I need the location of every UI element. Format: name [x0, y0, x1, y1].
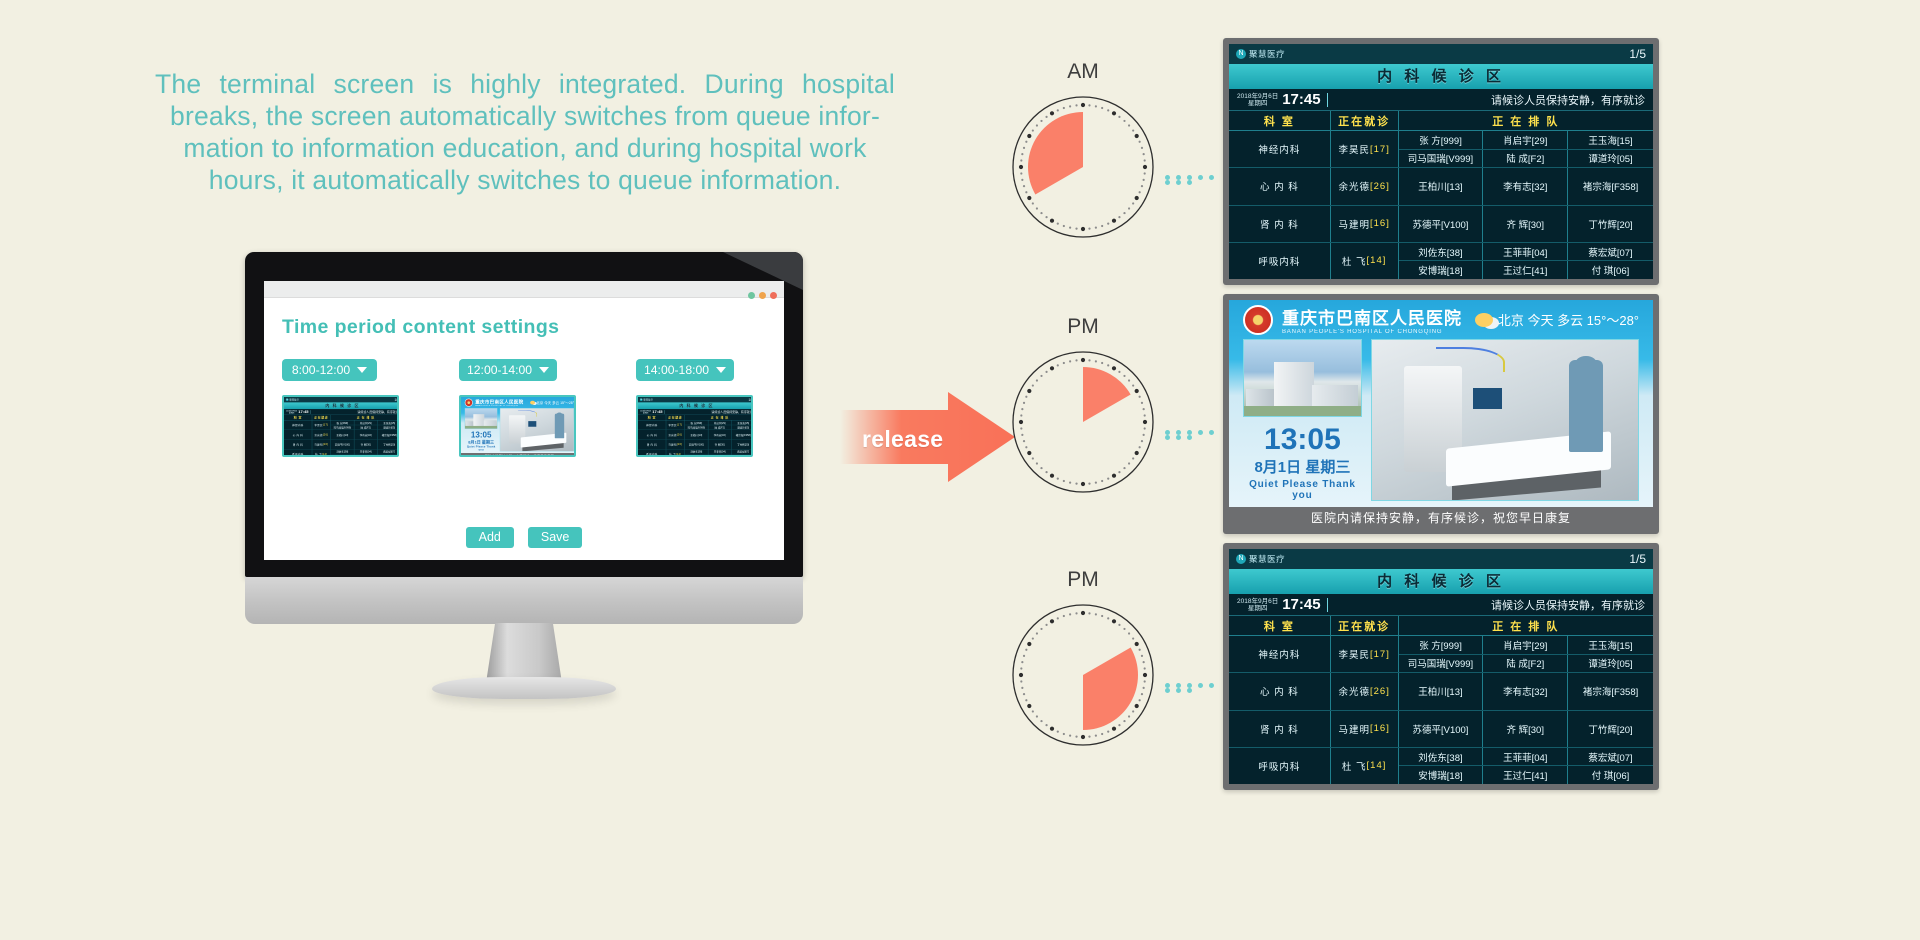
current-patient: 马建明[16]: [666, 440, 685, 449]
period-label-3: 14:00-18:00: [644, 363, 709, 377]
queue-line: 张 方[999]肖启宇[29]王玉海[15]: [1399, 636, 1653, 655]
weather-widget: 北京 今天 多云 15°～28°: [530, 400, 574, 405]
hospital-name-cn: 重庆市巴南区人民医院: [475, 398, 523, 405]
queue-patient: 陆 成[F2]: [1483, 655, 1568, 673]
connector-dots-2: [1165, 430, 1223, 436]
queue-cell: 王柏川[13]李有志[32]褚宗海[F358]: [1399, 673, 1653, 709]
queue-line: 王柏川[13]李有志[32]褚宗海[F358]: [1399, 168, 1653, 204]
queue-patient: 李有志[32]: [354, 430, 377, 439]
monitor-foot: [432, 677, 616, 699]
sun-cloud-icon: [530, 401, 535, 405]
queue-patient: 刘佐东[38]: [1399, 748, 1484, 766]
queue-table: 科 室 正在就诊 正 在 排 队 神经内科 李昊民[17] 张 方[999]肖启…: [1229, 616, 1653, 784]
brand-logo: N聚慧医疗: [640, 398, 653, 401]
board-notice: 请候诊人员保持安静，有序就诊: [1491, 92, 1645, 108]
hospital-name: 重庆市巴南区人民医院 BANAN PEOPLE'S HOSPITAL OF CH…: [1282, 304, 1462, 335]
queue-line: 刘佐东[38]王菲菲[04]蔡宏斌[07]: [1399, 243, 1653, 262]
queue-patient: 王过仁[41]: [1483, 261, 1568, 279]
page-indicator: 1/5: [394, 398, 398, 402]
brand-name: 聚慧医疗: [643, 398, 653, 401]
current-patient: 李昊民[17]: [1331, 131, 1399, 167]
intro-line-1: Theterminalscreenishighlyintegrated.Duri…: [155, 68, 895, 100]
desktop-monitor: Time period content settings 8:00-12:00 …: [245, 252, 803, 642]
clock-am-1: AM: [1008, 60, 1158, 242]
queue-cell: 张 方[999]肖启宇[29]王玉海[15]司马国瑞[V999]陆 成[F2]谭…: [331, 420, 399, 429]
queue-line: 苏德平[V100]齐 辉[30]丁竹辉[20]: [1399, 206, 1653, 242]
info-left-column: 13:05 8月1日 星期三 Quiet Please Thank you: [465, 408, 498, 451]
board-time: 17:45: [1282, 91, 1320, 108]
clock-slice-12:00-14:00: [1008, 347, 1158, 497]
table-row: 心 内 科 余光德[26] 王柏川[13]李有志[32]褚宗海[F358]: [638, 430, 753, 440]
clock-pm-2: PM: [1008, 568, 1158, 750]
board-title: 内 科 候 诊 区: [638, 402, 753, 409]
queue-patient: 王柏川[13]: [1399, 673, 1484, 709]
clock-block: 13:05 8月1日 星期三 Quiet Please Thank you: [1243, 425, 1362, 501]
dept-name: 肾 内 科: [1229, 206, 1331, 242]
info-board-body: 13:05 8月1日 星期三 Quiet Please Thank you: [1229, 339, 1653, 507]
queue-patient: 王柏川[13]: [331, 430, 354, 439]
clock-block: 13:05 8月1日 星期三 Quiet Please Thank you: [465, 431, 498, 451]
info-board-body: 13:05 8月1日 星期三 Quiet Please Thank you: [461, 408, 576, 453]
table-row: 神经内科 李昊民[17] 张 方[999]肖启宇[29]王玉海[15]司马国瑞[…: [638, 420, 753, 430]
queue-board: N聚慧医疗 1/5 内 科 候 诊 区 2018年9月6日星期四 17:45 请…: [1229, 44, 1653, 279]
queue-board-header: N聚慧医疗 1/5: [1229, 44, 1653, 64]
logo-mark-icon: N: [640, 398, 643, 401]
info-footer: 医院内请保持安静，有序候诊，祝您早日康复: [461, 453, 576, 457]
queue-patient: 齐 辉[30]: [1483, 206, 1568, 242]
board-title: 内 科 候 诊 区: [1229, 64, 1653, 89]
queue-patient: 苏德平[V100]: [1399, 711, 1484, 747]
queue-patient: 安博瑞[18]: [1399, 261, 1484, 279]
quiet-message: Quiet Please Thank you: [465, 446, 498, 452]
queue-patient: 肖启宇[29]: [1483, 131, 1568, 149]
queue-line: 安博瑞[18]王过仁[41]付 琪[06]: [685, 454, 753, 457]
thumb-info-board: 重庆市巴南区人民医院 BANAN PEOPLE'S HOSPITAL OF CH…: [461, 397, 576, 457]
queue-patient: 付 琪[06]: [1568, 261, 1653, 279]
display-panel-2: 重庆市巴南区人民医院 BANAN PEOPLE'S HOSPITAL OF CH…: [1223, 294, 1659, 534]
weather-text: 北京 今天 多云 15°～28°: [1498, 310, 1639, 329]
board-time: 17:45: [298, 410, 308, 415]
hospital-crest-icon: [465, 399, 473, 407]
info-board: 重庆市巴南区人民医院 BANAN PEOPLE'S HOSPITAL OF CH…: [461, 397, 576, 457]
monitor-neck: [486, 623, 562, 683]
clock-dial: [1008, 600, 1158, 750]
dept-name: 呼吸内科: [284, 449, 312, 457]
weather-text: 北京 今天 多云 15°～28°: [536, 400, 574, 405]
dept-name: 肾 内 科: [284, 440, 312, 449]
action-buttons: Add Save: [264, 527, 784, 548]
queue-patient: 王玉海[15]: [1568, 131, 1653, 149]
queue-line: 司马国瑞[V999]陆 成[F2]谭道玲[05]: [1399, 150, 1653, 168]
queue-patient: 陆 成[F2]: [1483, 150, 1568, 168]
queue-cell: 苏德平[V100]齐 辉[30]丁竹辉[20]: [331, 440, 399, 449]
clock-label: PM: [1008, 568, 1158, 592]
page-indicator: 1/5: [1629, 47, 1646, 61]
table-row: 肾 内 科 马建明[16] 苏德平[V100]齐 辉[30]丁竹辉[20]: [284, 440, 399, 450]
brand-name: 聚慧医疗: [289, 398, 299, 401]
connector-dots-3: [1165, 683, 1223, 689]
table-row: 神经内科 李昊民[17] 张 方[999]肖启宇[29]王玉海[15]司马国瑞[…: [284, 420, 399, 430]
queue-cell: 苏德平[V100]齐 辉[30]丁竹辉[20]: [1399, 711, 1653, 747]
queue-patient: 齐 辉[30]: [708, 440, 731, 449]
queue-patient: 付 琪[06]: [1568, 766, 1653, 784]
clock-slice-8:00-12:00: [1008, 92, 1158, 242]
queue-line: 王柏川[13]李有志[32]褚宗海[F358]: [1399, 673, 1653, 709]
queue-patient: 苏德平[V100]: [685, 440, 708, 449]
window-controls[interactable]: [744, 286, 777, 304]
thumb-queue-board: N聚慧医疗 1/5 内 科 候 诊 区 2018年9月6日星期四 17:45 请…: [638, 397, 753, 457]
period-thumbnail-3[interactable]: N聚慧医疗 1/5 内 科 候 诊 区 2018年9月6日星期四 17:45 请…: [636, 395, 753, 457]
brand-logo: N聚慧医疗: [1236, 553, 1285, 565]
queue-patient: 司马国瑞[V999]: [1399, 150, 1484, 168]
clock-dial: [1008, 92, 1158, 242]
board-time: 17:45: [652, 410, 662, 415]
period-dropdown-3[interactable]: 14:00-18:00: [636, 359, 734, 381]
hospital-name-en: BANAN PEOPLE'S HOSPITAL OF CHONGQING: [1282, 329, 1462, 335]
queue-board: N聚慧医疗 1/5 内 科 候 诊 区 2018年9月6日星期四 17:45 请…: [284, 397, 399, 457]
period-label-1: 8:00-12:00: [292, 363, 350, 377]
current-patient: 杜 飞[14]: [312, 449, 331, 457]
col-queue: 正 在 排 队: [1399, 616, 1653, 636]
intro-line-2: breaks, the screen automatically switche…: [155, 100, 895, 132]
current-patient: 余光德[26]: [1331, 673, 1399, 709]
weather-widget: 北京 今天 多云 15°～28°: [1475, 310, 1639, 329]
queue-cell: 张 方[999]肖启宇[29]王玉海[15]司马国瑞[V999]陆 成[F2]谭…: [1399, 636, 1653, 672]
thumb-queue-board: N聚慧医疗 1/5 内 科 候 诊 区 2018年9月6日星期四 17:45 请…: [284, 397, 399, 457]
display-panel-1: N聚慧医疗 1/5 内 科 候 诊 区 2018年9月6日星期四 17:45 请…: [1223, 38, 1659, 285]
add-button[interactable]: Add: [466, 527, 514, 548]
queue-cell: 苏德平[V100]齐 辉[30]丁竹辉[20]: [1399, 206, 1653, 242]
dept-name: 心 内 科: [284, 430, 312, 439]
save-button[interactable]: Save: [528, 527, 583, 548]
monitor-screen: Time period content settings 8:00-12:00 …: [264, 281, 784, 560]
queue-cell: 刘佐东[38]王菲菲[04]蔡宏斌[07]安博瑞[18]王过仁[41]付 琪[0…: [685, 449, 753, 457]
queue-patient: 蔡宏斌[07]: [1568, 243, 1653, 261]
queue-line: 司马国瑞[V999]陆 成[F2]谭道玲[05]: [1399, 655, 1653, 673]
queue-patient: 王柏川[13]: [685, 430, 708, 439]
queue-board: N聚慧医疗 1/5 内 科 候 诊 区 2018年9月6日星期四 17:45 请…: [638, 397, 753, 457]
chevron-down-icon: [539, 367, 549, 373]
minimize-dot-icon[interactable]: [748, 292, 755, 299]
period-slot-1: 8:00-12:00 N聚慧医疗 1/5 内 科 候 诊 区 2018年9月6日…: [282, 359, 399, 457]
current-patient: 杜 飞[14]: [1331, 243, 1399, 279]
queue-patient: 苏德平[V100]: [1399, 206, 1484, 242]
queue-table: 科 室 正在就诊 正 在 排 队 神经内科 李昊民[17] 张 方[999]肖启…: [284, 415, 399, 457]
current-date: 8月1日 星期三: [465, 439, 498, 445]
period-slot-3: 14:00-18:00 N聚慧医疗 1/5 内 科 候 诊 区 2018年9月6…: [636, 359, 753, 457]
queue-patient: 张 方[999]: [1399, 131, 1484, 149]
period-thumbnail-2[interactable]: 重庆市巴南区人民医院 BANAN PEOPLE'S HOSPITAL OF CH…: [459, 395, 576, 457]
queue-patient: 付 琪[06]: [731, 454, 753, 457]
divider: [1327, 598, 1328, 612]
queue-patient: 齐 辉[30]: [354, 440, 377, 449]
board-subheader: 2018年9月6日星期四 17:45 请候诊人员保持安静，有序就诊: [1229, 594, 1653, 616]
queue-patient: 安博瑞[18]: [1399, 766, 1484, 784]
queue-patient: 王过仁[41]: [708, 454, 731, 457]
queue-line: 王柏川[13]李有志[32]褚宗海[F358]: [331, 430, 399, 439]
table-row: 神经内科 李昊民[17] 张 方[999]肖启宇[29]王玉海[15]司马国瑞[…: [1229, 636, 1653, 673]
table-row: 心 内 科 余光德[26] 王柏川[13]李有志[32]褚宗海[F358]: [1229, 673, 1653, 710]
current-patient: 马建明[16]: [1331, 711, 1399, 747]
table-row: 肾 内 科 马建明[16] 苏德平[V100]齐 辉[30]丁竹辉[20]: [1229, 206, 1653, 243]
clock-pm-1: PM: [1008, 315, 1158, 497]
display-panel-3: N聚慧医疗 1/5 内 科 候 诊 区 2018年9月6日星期四 17:45 请…: [1223, 543, 1659, 790]
queue-cell: 张 方[999]肖启宇[29]王玉海[15]司马国瑞[V999]陆 成[F2]谭…: [685, 420, 753, 429]
board-time: 17:45: [1282, 596, 1320, 613]
current-patient: 余光德[26]: [666, 430, 685, 439]
table-row: 神经内科 李昊民[17] 张 方[999]肖启宇[29]王玉海[15]司马国瑞[…: [1229, 131, 1653, 168]
chevron-down-icon: [357, 367, 367, 373]
queue-line: 安博瑞[18]王过仁[41]付 琪[06]: [1399, 261, 1653, 279]
brand-name: 聚慧医疗: [1249, 48, 1285, 60]
queue-line: 苏德平[V100]齐 辉[30]丁竹辉[20]: [685, 440, 753, 449]
queue-patient: 丁竹辉[20]: [377, 440, 399, 449]
queue-patient: 齐 辉[30]: [1483, 711, 1568, 747]
queue-table: 科 室 正在就诊 正 在 排 队 神经内科 李昊民[17] 张 方[999]肖启…: [638, 415, 753, 457]
intro-paragraph: Theterminalscreenishighlyintegrated.Duri…: [155, 68, 895, 196]
logo-mark-icon: N: [1236, 49, 1246, 59]
queue-patient: 丁竹辉[20]: [1568, 711, 1653, 747]
queue-patient: 褚宗海[F358]: [731, 430, 753, 439]
period-thumbnail-1[interactable]: N聚慧医疗 1/5 内 科 候 诊 区 2018年9月6日星期四 17:45 请…: [282, 395, 399, 457]
queue-patient: 王过仁[41]: [354, 454, 377, 457]
queue-patient: 王菲菲[04]: [1483, 748, 1568, 766]
dept-name: 心 内 科: [1229, 168, 1331, 204]
table-header: 科 室 正在就诊 正 在 排 队: [1229, 111, 1653, 131]
queue-line: 苏德平[V100]齐 辉[30]丁竹辉[20]: [1399, 711, 1653, 747]
dept-name: 呼吸内科: [1229, 748, 1331, 784]
queue-cell: 王柏川[13]李有志[32]褚宗海[F358]: [331, 430, 399, 439]
brand-logo: N聚慧医疗: [286, 398, 299, 401]
table-row: 心 内 科 余光德[26] 王柏川[13]李有志[32]褚宗海[F358]: [284, 430, 399, 440]
brand-name: 聚慧医疗: [1249, 553, 1285, 565]
queue-patient: 刘佐东[38]: [1399, 243, 1484, 261]
current-time: 13:05: [465, 431, 498, 439]
table-header: 科 室 正在就诊 正 在 排 队: [1229, 616, 1653, 636]
clock-label: PM: [1008, 315, 1158, 339]
queue-patient: 张 方[999]: [1399, 636, 1484, 654]
brand-logo: N聚慧医疗: [1236, 48, 1285, 60]
page-indicator: 1/5: [748, 398, 752, 402]
dept-name: 神经内科: [638, 420, 666, 429]
current-patient: 余光德[26]: [312, 430, 331, 439]
quiet-message: Quiet Please Thank you: [1243, 479, 1362, 501]
ward-photo: [1371, 339, 1639, 501]
close-dot-icon[interactable]: [770, 292, 777, 299]
clock-slice-14:00-18:00: [1008, 600, 1158, 750]
current-patient: 李昊民[17]: [312, 420, 331, 429]
board-date: 2018年9月6日星期四: [1237, 93, 1278, 107]
period-dropdown-2[interactable]: 12:00-14:00: [459, 359, 557, 381]
queue-cell: 张 方[999]肖启宇[29]王玉海[15]司马国瑞[V999]陆 成[F2]谭…: [1399, 131, 1653, 167]
queue-cell: 王柏川[13]李有志[32]褚宗海[F358]: [1399, 168, 1653, 204]
queue-line: 刘佐东[38]王菲菲[04]蔡宏斌[07]: [1399, 748, 1653, 767]
col-dept: 科 室: [1229, 616, 1331, 636]
queue-board-header: N聚慧医疗 1/5: [1229, 549, 1653, 569]
hospital-name: 重庆市巴南区人民医院 BANAN PEOPLE'S HOSPITAL OF CH…: [475, 398, 523, 406]
table-row: 呼吸内科 杜 飞[14] 刘佐东[38]王菲菲[04]蔡宏斌[07]安博瑞[18…: [284, 449, 399, 457]
queue-patient: 丁竹辉[20]: [1568, 206, 1653, 242]
queue-patient: 李有志[32]: [1483, 168, 1568, 204]
queue-table: 科 室 正在就诊 正 在 排 队 神经内科 李昊民[17] 张 方[999]肖启…: [1229, 111, 1653, 279]
dept-name: 神经内科: [284, 420, 312, 429]
table-row: 呼吸内科 杜 飞[14] 刘佐东[38]王菲菲[04]蔡宏斌[07]安博瑞[18…: [638, 449, 753, 457]
queue-line: 苏德平[V100]齐 辉[30]丁竹辉[20]: [331, 440, 399, 449]
queue-patient: 李有志[32]: [1483, 673, 1568, 709]
info-left-column: 13:05 8月1日 星期三 Quiet Please Thank you: [1243, 339, 1362, 501]
page-indicator: 1/5: [1629, 552, 1646, 566]
release-label: release: [862, 426, 943, 453]
period-list: 8:00-12:00 N聚慧医疗 1/5 内 科 候 诊 区 2018年9月6日…: [282, 359, 784, 457]
queue-cell: 刘佐东[38]王菲菲[04]蔡宏斌[07]安博瑞[18]王过仁[41]付 琪[0…: [331, 449, 399, 457]
info-board-header: 重庆市巴南区人民医院 BANAN PEOPLE'S HOSPITAL OF CH…: [461, 397, 576, 408]
info-footer: 医院内请保持安静，有序候诊，祝您早日康复: [1229, 507, 1653, 528]
dept-name: 肾 内 科: [638, 440, 666, 449]
board-date: 2018年9月6日星期四: [640, 410, 651, 414]
queue-cell: 苏德平[V100]齐 辉[30]丁竹辉[20]: [685, 440, 753, 449]
chevron-down-icon: [716, 367, 726, 373]
queue-patient: 安博瑞[18]: [685, 454, 708, 457]
current-patient: 马建明[16]: [1331, 206, 1399, 242]
logo-mark-icon: N: [1236, 554, 1246, 564]
queue-patient: 丁竹辉[20]: [731, 440, 753, 449]
intro-line-4: hours, it automatically switches to queu…: [155, 164, 895, 196]
queue-line: 王柏川[13]李有志[32]褚宗海[F358]: [685, 430, 753, 439]
table-row: 心 内 科 余光德[26] 王柏川[13]李有志[32]褚宗海[F358]: [1229, 168, 1653, 205]
board-subheader: 2018年9月6日星期四 17:45 请候诊人员保持安静，有序就诊: [1229, 89, 1653, 111]
clock-label: AM: [1008, 60, 1158, 84]
dept-name: 神经内科: [1229, 636, 1331, 672]
col-dept: 科 室: [1229, 111, 1331, 131]
release-arrow: release: [840, 390, 1015, 485]
queue-patient: 王菲菲[04]: [1483, 243, 1568, 261]
hospital-crest-icon: [1243, 305, 1273, 335]
info-board-header: 重庆市巴南区人民医院 BANAN PEOPLE'S HOSPITAL OF CH…: [1229, 300, 1653, 339]
current-patient: 马建明[16]: [312, 440, 331, 449]
queue-patient: 王柏川[13]: [1399, 168, 1484, 204]
board-title: 内 科 候 诊 区: [1229, 569, 1653, 594]
dept-name: 肾 内 科: [1229, 711, 1331, 747]
queue-patient: 安博瑞[18]: [331, 454, 354, 457]
current-patient: 李昊民[17]: [1331, 636, 1399, 672]
col-current: 正在就诊: [1331, 111, 1399, 131]
col-queue: 正 在 排 队: [1399, 111, 1653, 131]
info-board: 重庆市巴南区人民医院 BANAN PEOPLE'S HOSPITAL OF CH…: [1229, 300, 1653, 528]
queue-patient: 褚宗海[F358]: [1568, 168, 1653, 204]
page-title: Time period content settings: [282, 316, 784, 339]
queue-patient: 蔡宏斌[07]: [1568, 748, 1653, 766]
current-patient: 杜 飞[14]: [1331, 748, 1399, 784]
queue-patient: 褚宗海[F358]: [1568, 673, 1653, 709]
table-row: 呼吸内科 杜 飞[14] 刘佐东[38]王菲菲[04]蔡宏斌[07]安博瑞[18…: [1229, 748, 1653, 784]
queue-patient: 王过仁[41]: [1483, 766, 1568, 784]
table-row: 呼吸内科 杜 飞[14] 刘佐东[38]王菲菲[04]蔡宏斌[07]安博瑞[18…: [1229, 243, 1653, 279]
period-dropdown-1[interactable]: 8:00-12:00: [282, 359, 377, 381]
board-date: 2018年9月6日星期四: [286, 410, 297, 414]
board-date: 2018年9月6日星期四: [1237, 598, 1278, 612]
ward-photo: [500, 408, 574, 451]
period-label-2: 12:00-14:00: [467, 363, 532, 377]
table-row: 肾 内 科 马建明[16] 苏德平[V100]齐 辉[30]丁竹辉[20]: [1229, 711, 1653, 748]
board-title: 内 科 候 诊 区: [284, 402, 399, 409]
current-patient: 杜 飞[14]: [666, 449, 685, 457]
queue-patient: 王玉海[15]: [1568, 636, 1653, 654]
board-notice: 请候诊人员保持安静，有序就诊: [357, 410, 398, 414]
hospital-name-cn: 重庆市巴南区人民医院: [1282, 304, 1462, 329]
divider: [1327, 93, 1328, 107]
monitor-bezel: Time period content settings 8:00-12:00 …: [245, 252, 803, 577]
queue-patient: 谭道玲[05]: [1568, 655, 1653, 673]
queue-patient: 肖启宇[29]: [1483, 636, 1568, 654]
current-patient: 李昊民[17]: [666, 420, 685, 429]
window-titlebar: [264, 281, 784, 298]
board-notice: 请候诊人员保持安静，有序就诊: [1491, 597, 1645, 613]
queue-patient: 司马国瑞[V999]: [1399, 655, 1484, 673]
monitor-chin: [245, 577, 803, 624]
table-row: 肾 内 科 马建明[16] 苏德平[V100]齐 辉[30]丁竹辉[20]: [638, 440, 753, 450]
queue-patient: 谭道玲[05]: [1568, 150, 1653, 168]
queue-patient: 付 琪[06]: [377, 454, 399, 457]
sun-cloud-icon: [1475, 313, 1493, 327]
queue-cell: 王柏川[13]李有志[32]褚宗海[F358]: [685, 430, 753, 439]
dept-name: 神经内科: [1229, 131, 1331, 167]
dept-name: 心 内 科: [1229, 673, 1331, 709]
connector-dots-1: [1165, 175, 1223, 181]
logo-mark-icon: N: [286, 398, 289, 401]
hospital-photo: [465, 408, 498, 429]
queue-patient: 苏德平[V100]: [331, 440, 354, 449]
queue-cell: 刘佐东[38]王菲菲[04]蔡宏斌[07]安博瑞[18]王过仁[41]付 琪[0…: [1399, 243, 1653, 279]
queue-line: 安博瑞[18]王过仁[41]付 琪[06]: [1399, 766, 1653, 784]
clock-dial: [1008, 347, 1158, 497]
queue-line: 张 方[999]肖启宇[29]王玉海[15]: [1399, 131, 1653, 150]
current-date: 8月1日 星期三: [1243, 456, 1362, 477]
dept-name: 呼吸内科: [638, 449, 666, 457]
queue-line: 安博瑞[18]王过仁[41]付 琪[06]: [331, 454, 399, 457]
dept-name: 心 内 科: [638, 430, 666, 439]
queue-patient: 褚宗海[F358]: [377, 430, 399, 439]
hospital-name-en: BANAN PEOPLE'S HOSPITAL OF CHONGQING: [475, 405, 523, 407]
current-patient: 余光德[26]: [1331, 168, 1399, 204]
board-notice: 请候诊人员保持安静，有序就诊: [711, 410, 752, 414]
col-current: 正在就诊: [1331, 616, 1399, 636]
queue-board: N聚慧医疗 1/5 内 科 候 诊 区 2018年9月6日星期四 17:45 请…: [1229, 549, 1653, 784]
queue-cell: 刘佐东[38]王菲菲[04]蔡宏斌[07]安博瑞[18]王过仁[41]付 琪[0…: [1399, 748, 1653, 784]
intro-line-3: mation to information education, and dur…: [155, 132, 895, 164]
current-time: 13:05: [1243, 425, 1362, 455]
period-slot-2: 12:00-14:00 重庆市巴南区人民医院 BANAN PEOPLE'S HO…: [459, 359, 576, 457]
maximize-dot-icon[interactable]: [759, 292, 766, 299]
queue-patient: 李有志[32]: [708, 430, 731, 439]
hospital-photo: [1243, 339, 1362, 417]
dept-name: 呼吸内科: [1229, 243, 1331, 279]
